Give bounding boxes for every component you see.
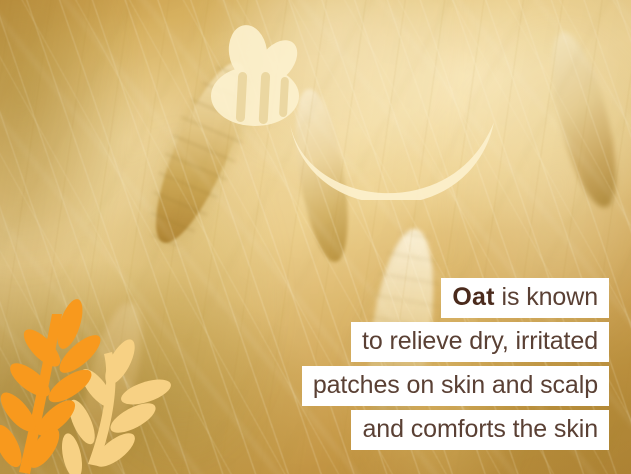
copy-line-1: Oat is known	[441, 278, 609, 318]
copy-line-1-text: is known	[495, 283, 598, 311]
lead-word: Oat	[452, 283, 494, 311]
benefit-copy-block: Oat is known to relieve dry, irritated p…	[302, 278, 609, 450]
banner-image: Oat is known to relieve dry, irritated p…	[0, 0, 631, 474]
bee-flight-path-icon	[288, 118, 498, 200]
leaf-sprig-decoration	[0, 296, 184, 474]
copy-line-2: to relieve dry, irritated	[351, 322, 609, 362]
copy-line-4: and comforts the skin	[351, 410, 609, 450]
copy-line-3: patches on skin and scalp	[302, 366, 609, 406]
